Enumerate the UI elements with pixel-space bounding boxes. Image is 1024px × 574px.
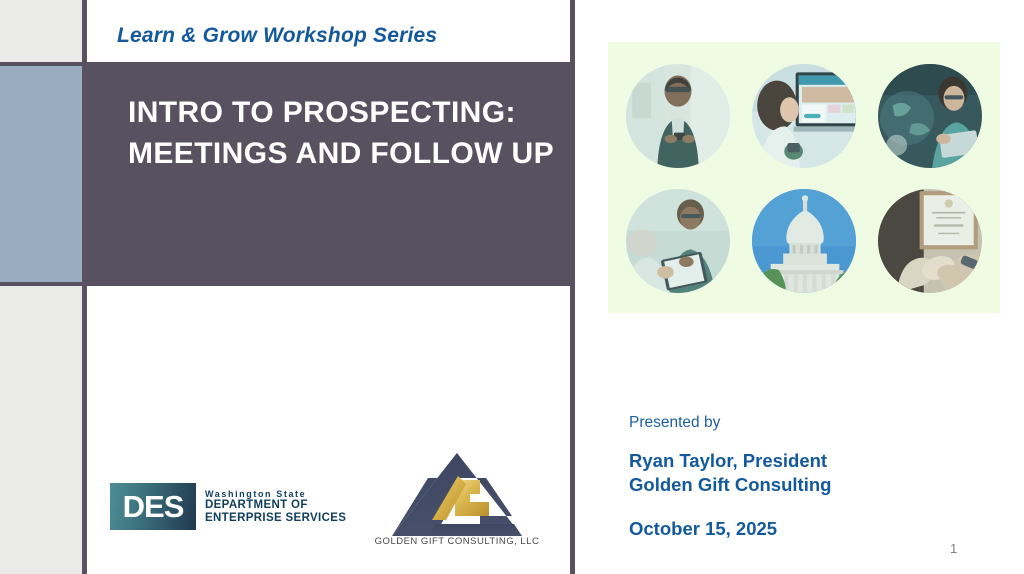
- woman-with-tablet-photo: [878, 64, 982, 168]
- des-logo-mark: DES: [110, 483, 196, 530]
- photo-panel: [608, 42, 1000, 313]
- title-slide: Learn & Grow Workshop Series INTRO TO PR…: [0, 0, 1024, 574]
- divider-horizontal-bottom: [0, 282, 82, 286]
- photo-cell: [746, 56, 862, 175]
- page-title: INTRO TO PROSPECTING: MEETINGS AND FOLLO…: [128, 92, 558, 174]
- state-capitol-building-photo: [752, 189, 856, 293]
- workshop-series-eyebrow: Learn & Grow Workshop Series: [117, 24, 437, 48]
- photo-cell: [872, 181, 988, 300]
- des-logo: DES Washington State DEPARTMENT OF ENTER…: [110, 483, 346, 530]
- divider-vertical-right: [570, 0, 575, 574]
- presented-by-label: Presented by: [629, 414, 720, 432]
- photo-grid: [620, 56, 988, 300]
- des-logo-line3: ENTERPRISE SERVICES: [205, 512, 346, 525]
- logo-row: DES Washington State DEPARTMENT OF ENTER…: [100, 450, 560, 565]
- page-number: 1: [950, 541, 957, 556]
- golden-gift-logo: GOLDEN GIFT CONSULTING, LLC: [362, 450, 552, 562]
- woman-at-computer-monitor-photo: [752, 64, 856, 168]
- des-logo-line2: DEPARTMENT OF: [205, 499, 346, 512]
- golden-gift-caption: GOLDEN GIFT CONSULTING, LLC: [362, 536, 552, 547]
- photo-cell: [872, 56, 988, 175]
- left-accent-block: [0, 66, 82, 282]
- photo-cell: [746, 181, 862, 300]
- handshake-with-certificate-photo: [878, 189, 982, 293]
- presenter-company: Golden Gift Consulting: [629, 473, 831, 497]
- presentation-date: October 15, 2025: [629, 518, 777, 540]
- presenter-name-title: Ryan Taylor, President: [629, 449, 831, 473]
- presenter-details: Ryan Taylor, President Golden Gift Consu…: [629, 449, 831, 497]
- photo-cell: [620, 181, 736, 300]
- photo-cell: [620, 56, 736, 175]
- des-logo-line1: Washington State: [205, 489, 346, 499]
- divider-horizontal-top: [0, 62, 82, 66]
- golden-gift-triangle-mark: [362, 450, 552, 542]
- des-logo-mark-text: DES: [123, 491, 184, 522]
- des-logo-wordmark: Washington State DEPARTMENT OF ENTERPRIS…: [205, 489, 346, 525]
- man-with-smartphone-photo: [626, 64, 730, 168]
- consultation-meeting-photo: [626, 189, 730, 293]
